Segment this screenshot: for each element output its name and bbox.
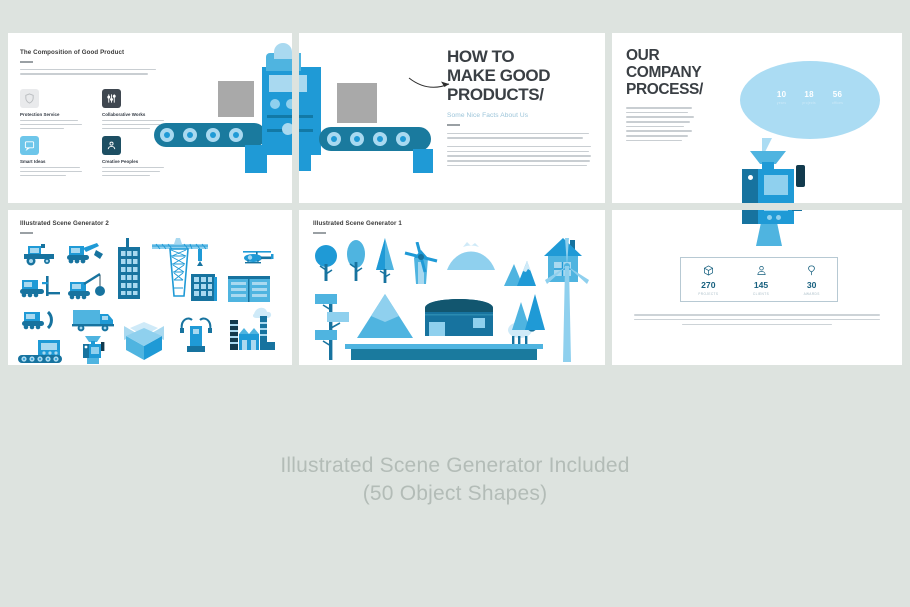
machine-hopper (299, 53, 301, 71)
bulldozer-icon (20, 308, 60, 332)
title-line-1: OUR (626, 47, 734, 64)
stat-value: 270 (698, 280, 718, 290)
machine-lever (796, 165, 805, 187)
feature-text (20, 120, 90, 129)
machine-side-panel (742, 210, 758, 224)
slide-scene-generator-1[interactable]: Illustrated Scene Generator 1 (299, 210, 605, 365)
intro-paragraph (20, 69, 156, 75)
footer-paragraph (634, 314, 880, 329)
machine-button (286, 99, 292, 109)
conveyor-wheel-hub (210, 132, 216, 138)
machine-button (776, 215, 781, 220)
conveyor-wheel-hub (377, 136, 383, 142)
machine-stand (756, 224, 782, 246)
factory-machine-illustration (150, 53, 292, 193)
bubble-stat-item: 10 years (777, 90, 787, 105)
machine-indicator (748, 175, 753, 180)
machine-slot (299, 129, 313, 132)
slide-3-content: OUR COMPANY PROCESS/ (626, 47, 734, 141)
title-divider (20, 232, 33, 234)
stat-label: CLIENTS (753, 292, 769, 296)
page-title: The Composition of Good Product (20, 49, 170, 56)
conveyor-wheel-hub (233, 132, 239, 138)
pyramid-mountain-icon (355, 292, 415, 340)
box-icon (698, 264, 718, 277)
round-tree-icon (313, 244, 339, 282)
stat-item: 145 CLIENTS (753, 264, 769, 296)
machine-base (299, 149, 311, 171)
stat-item: 30 AWARDS (804, 264, 820, 296)
machine-screen (269, 75, 292, 92)
conveyor-wheel-hub (400, 136, 406, 142)
machine-spout (792, 210, 802, 211)
title-divider (20, 61, 33, 63)
twin-peaks-icon (511, 288, 547, 332)
slide-scene-generator-2[interactable]: Illustrated Scene Generator 2 (8, 210, 292, 365)
feature-item[interactable]: Protection Service (20, 89, 90, 132)
conveyor-wheel-hub (164, 132, 170, 138)
small-building-icon (190, 272, 218, 302)
wide-building-icon (228, 276, 270, 302)
stat-value: 10 (777, 90, 787, 99)
open-box-icon (120, 320, 168, 362)
title-divider (447, 124, 460, 126)
wrecking-ball-crane-icon (68, 272, 112, 302)
feature-name: Protection Service (20, 112, 90, 117)
slide-how-to[interactable]: HOW TO MAKE GOOD PRODUCTS/ Some Nice Fac… (299, 33, 605, 203)
caption-line-2: (50 Object Shapes) (0, 480, 910, 508)
slide-2-content: HOW TO MAKE GOOD PRODUCTS/ Some Nice Fac… (447, 47, 593, 166)
helicopter-icon (240, 250, 274, 266)
speech-bubble: 10 years 18 projects 56 offices (740, 61, 880, 139)
slide-company-process[interactable]: OUR COMPANY PROCESS/ 10 years 18 project… (612, 33, 902, 203)
snow-mountain-icon (445, 236, 497, 272)
forklift-icon (20, 274, 64, 300)
excavator-icon (66, 240, 106, 267)
machine-slot (267, 115, 292, 118)
user-icon (102, 136, 121, 155)
feature-item[interactable]: Smart Ideas (20, 136, 90, 179)
machine-screen (764, 175, 788, 195)
robot-arm-icon (178, 316, 214, 354)
stat-label: offices (832, 101, 843, 105)
sliders-icon (102, 89, 121, 108)
stat-item: 270 PROJECTS (698, 264, 718, 296)
slide-stats[interactable]: 270 PROJECTS 145 CLIENTS (612, 210, 902, 365)
stat-label: projects (802, 101, 816, 105)
gray-product-block (218, 81, 254, 117)
title-line-2: COMPANY (626, 64, 734, 81)
grinder-machine-illustration (734, 210, 824, 248)
feature-text (20, 167, 90, 176)
grinder-machine-illustration (734, 151, 824, 203)
machine-button (767, 215, 772, 220)
title-line-2: MAKE GOOD (447, 66, 593, 85)
tractor-icon (22, 242, 58, 266)
bubble-stat-item: 18 projects (802, 90, 816, 105)
office-tower-icon (116, 238, 142, 300)
delivery-truck-icon (72, 308, 116, 334)
object-gallery (299, 236, 605, 365)
factory-plant-icon (226, 304, 276, 354)
barn-icon (423, 292, 495, 340)
page-title: HOW TO MAKE GOOD PRODUCTS/ (447, 47, 593, 104)
machine-knob (282, 123, 292, 135)
machine-screen (764, 210, 788, 211)
caption-line-1: Illustrated Scene Generator Included (280, 454, 629, 477)
award-icon (804, 264, 820, 277)
windmill-icon (403, 242, 439, 286)
machine-slot (299, 115, 313, 118)
conveyor-wheel-hub (354, 136, 360, 142)
bubble-stats: 10 years 18 projects 56 offices (740, 90, 880, 105)
page-subtitle: Some Nice Facts About Us (447, 112, 593, 119)
small-mountain-icon (503, 254, 537, 288)
oval-tree-icon (345, 240, 367, 282)
stats-box: 270 PROJECTS 145 CLIENTS (680, 257, 838, 302)
machine-button (270, 99, 280, 109)
grinder-machine-icon (80, 336, 108, 365)
slide-composition[interactable]: The Composition of Good Product Protecti… (8, 33, 292, 203)
ground-platform-top (345, 344, 543, 349)
stat-label: PROJECTS (698, 292, 718, 296)
stat-label: years (777, 101, 787, 105)
machine-funnel (274, 43, 292, 59)
stat-value: 145 (753, 280, 769, 290)
feature-name: Smart Ideas (20, 159, 90, 164)
board-caption: Illustrated Scene Generator Included (50… (0, 452, 910, 508)
conveyor-machine-icon (18, 340, 68, 365)
ground-platform (351, 348, 537, 360)
page-title: Illustrated Scene Generator 2 (20, 220, 109, 227)
title-divider (313, 232, 326, 234)
machine-base (413, 149, 433, 173)
object-gallery (8, 236, 292, 365)
conveyor-wheel-hub (187, 132, 193, 138)
body-paragraph (626, 107, 734, 141)
chat-idea-icon (20, 136, 39, 155)
gray-product-block (337, 83, 377, 123)
body-paragraph-2 (447, 146, 593, 166)
stat-label: AWARDS (804, 292, 820, 296)
slide-1-header: The Composition of Good Product (20, 49, 170, 75)
stat-value: 56 (832, 90, 843, 99)
person-icon (753, 264, 769, 277)
stat-value: 18 (802, 90, 816, 99)
title-line-1: HOW TO (447, 47, 593, 66)
machine-screen (299, 75, 307, 92)
factory-machine-illustration (299, 53, 465, 193)
page-title: OUR COMPANY PROCESS/ (626, 47, 734, 98)
body-paragraph-1 (447, 133, 593, 139)
stat-value: 30 (804, 280, 820, 290)
bubble-stat-item: 56 offices (832, 90, 843, 105)
wind-turbine-icon (545, 236, 591, 364)
title-line-3: PRODUCTS/ (447, 85, 593, 104)
presentation-preview-board: The Composition of Good Product Protecti… (0, 0, 910, 607)
pine-tree-icon (373, 238, 397, 284)
signpost-tree-icon (313, 290, 349, 362)
conveyor-wheel-hub (331, 136, 337, 142)
title-line-3: PROCESS/ (626, 81, 734, 98)
page-title: Illustrated Scene Generator 1 (313, 220, 402, 227)
shield-icon (20, 89, 39, 108)
